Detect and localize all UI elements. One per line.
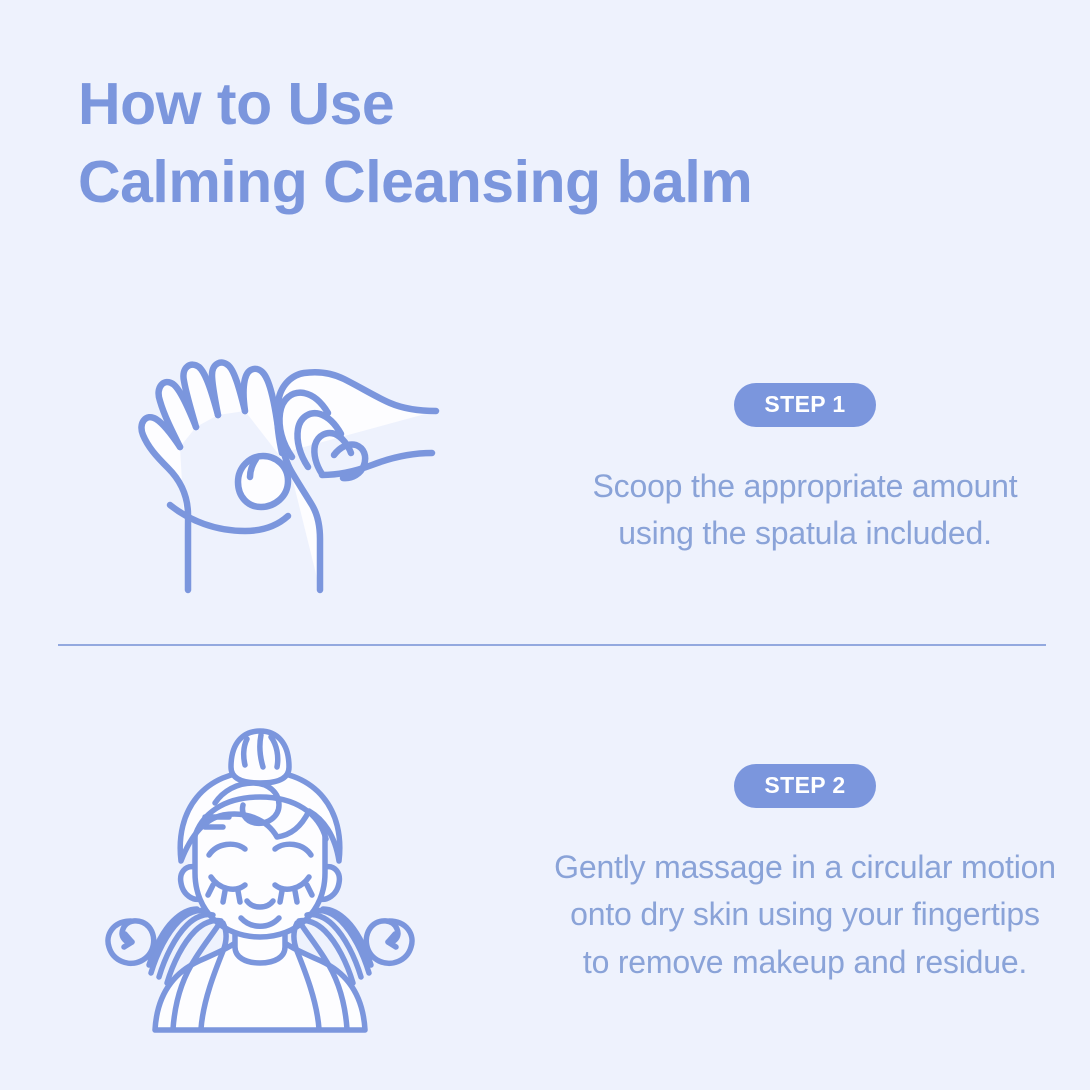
page-title: How to Use Calming Cleansing balm [78, 66, 978, 222]
page-title-line-1: How to Use [78, 66, 978, 144]
step-1-illustration-container [0, 335, 520, 605]
step-1-description: Scoop the appropriate amount using the s… [593, 463, 1018, 558]
woman-massaging-face-icon [95, 715, 425, 1035]
step-section-1: STEP 1 Scoop the appropriate amount usin… [0, 320, 1090, 620]
page-title-line-2: Calming Cleansing balm [78, 144, 978, 222]
step-2-illustration-container [0, 715, 520, 1035]
step-1-text-line-1: Scoop the appropriate amount [593, 463, 1018, 510]
step-2-text-container: STEP 2 Gently massage in a circular moti… [520, 764, 1090, 986]
swirl-arrow-left-icon [108, 921, 154, 963]
step-1-text-container: STEP 1 Scoop the appropriate amount usin… [520, 383, 1090, 558]
step-1-badge: STEP 1 [734, 383, 875, 427]
hands-scooping-balm-icon [60, 335, 460, 605]
step-2-text-line-1: Gently massage in a circular motion [554, 844, 1056, 891]
step-section-2: STEP 2 Gently massage in a circular moti… [0, 700, 1090, 1050]
step-2-text-line-3: to remove makeup and residue. [554, 939, 1056, 986]
swirl-arrow-right-icon [366, 921, 412, 963]
step-2-badge: STEP 2 [734, 764, 875, 808]
step-1-text-line-2: using the spatula included. [593, 510, 1018, 557]
step-2-text-line-2: onto dry skin using your fingertips [554, 891, 1056, 938]
section-divider [58, 644, 1046, 646]
step-2-description: Gently massage in a circular motion onto… [554, 844, 1056, 986]
